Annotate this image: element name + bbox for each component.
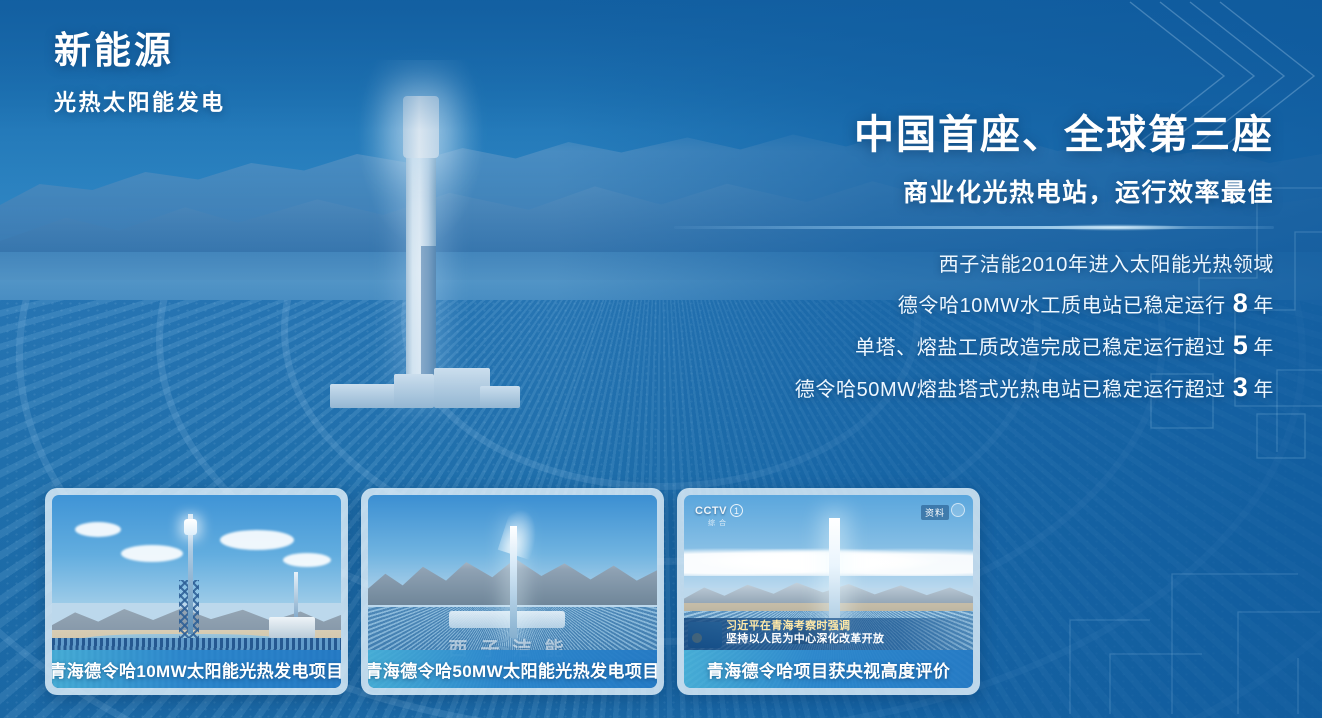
- panel-divider: [674, 226, 1274, 229]
- list-item: 单塔、熔盐工质改造完成已稳定运行超过5年: [674, 325, 1274, 367]
- cctv-channel-logo: CCTV 1 综合: [695, 504, 743, 528]
- cctv-wordmark: CCTV: [695, 505, 727, 517]
- photo-50mw-tower: 西子洁能 青海德令哈50MW太阳能光热发电项目: [368, 495, 657, 688]
- page-title: 新能源: [54, 30, 226, 73]
- thumbnail-card-50mw[interactable]: 西子洁能 青海德令哈50MW太阳能光热发电项目: [361, 488, 664, 695]
- highlight-panel: 中国首座、全球第三座 商业化光热电站，运行效率最佳 西子洁能2010年进入太阳能…: [674, 112, 1274, 409]
- bullet-text: 西子洁能2010年进入太阳能光热领域: [939, 254, 1274, 276]
- cloud: [220, 530, 294, 550]
- project-thumbnail-gallery: 青海德令哈10MW太阳能光热发电项目 西子洁能 青海德令哈50MW太阳能光热发电…: [45, 488, 980, 695]
- news-headline-line2: 坚持以人民为中心深化改革开放: [726, 633, 973, 647]
- bullet-prefix: 德令哈50MW熔盐塔式光热电站已稳定运行超过: [795, 379, 1226, 401]
- page-subtitle: 光热太阳能发电: [54, 85, 226, 117]
- photo-receiver-tower: [510, 526, 517, 638]
- photo-salt-tank: [449, 611, 565, 628]
- news-headline-line1: 习近平在青海考察时强调: [726, 620, 973, 634]
- bullet-suffix: 年: [1253, 337, 1274, 359]
- panel-subheadline: 商业化光热电站，运行效率最佳: [674, 173, 1274, 209]
- photo-plant-building: [269, 617, 315, 638]
- bullet-number: 5: [1226, 330, 1254, 360]
- list-item: 西子洁能2010年进入太阳能光热领域: [674, 248, 1274, 283]
- bullet-suffix: 年: [1253, 379, 1274, 401]
- bullet-number: 3: [1226, 372, 1254, 402]
- cctv-channel-name: 综合: [708, 518, 730, 528]
- broadcast-indicator-icon: [951, 503, 965, 517]
- photo-secondary-tower: [294, 572, 298, 622]
- photo-cctv-broadcast: CCTV 1 综合 资料 深入 习近平在青海考察时强调 坚持以人民为中心深化改革…: [684, 495, 973, 688]
- thumbnail-card-cctv[interactable]: CCTV 1 综合 资料 深入 习近平在青海考察时强调 坚持以人民为中心深化改革…: [677, 488, 980, 695]
- achievement-list: 西子洁能2010年进入太阳能光热领域 德令哈10MW水工质电站已稳定运行8年 单…: [674, 248, 1274, 409]
- list-item: 德令哈10MW水工质电站已稳定运行8年: [674, 283, 1274, 325]
- cctv-logo-row: CCTV 1: [695, 504, 743, 517]
- bullet-prefix: 德令哈10MW水工质电站已稳定运行: [898, 295, 1226, 317]
- thumbnail-caption: 青海德令哈10MW太阳能光热发电项目: [52, 650, 341, 688]
- news-ticker: 习近平在青海考察时强调 坚持以人民为中心深化改革开放: [684, 618, 973, 651]
- thumbnail-card-10mw[interactable]: 青海德令哈10MW太阳能光热发电项目: [45, 488, 348, 695]
- cloud: [75, 522, 121, 537]
- list-item: 德令哈50MW熔盐塔式光热电站已稳定运行超过3年: [674, 367, 1274, 409]
- bullet-prefix: 单塔、熔盐工质改造完成已稳定运行超过: [855, 337, 1226, 359]
- source-badge: 资料: [921, 505, 949, 520]
- bullet-number: 8: [1226, 288, 1254, 318]
- cloud: [283, 553, 331, 567]
- panel-headline: 中国首座、全球第三座: [674, 112, 1274, 159]
- thumbnail-caption: 青海德令哈项目获央视高度评价: [684, 650, 973, 688]
- slide-header: 新能源 光热太阳能发电: [54, 30, 226, 117]
- photo-10mw-tower: 青海德令哈10MW太阳能光热发电项目: [52, 495, 341, 688]
- cctv-channel-number: 1: [730, 504, 743, 517]
- thumbnail-caption: 青海德令哈50MW太阳能光热发电项目: [368, 650, 657, 688]
- bullet-suffix: 年: [1253, 295, 1274, 317]
- presentation-slide: 新能源 光热太阳能发电 中国首座、全球第三座 商业化光热电站，运行效率最佳 西子…: [0, 0, 1322, 718]
- photo-receiver-tower: [188, 514, 193, 634]
